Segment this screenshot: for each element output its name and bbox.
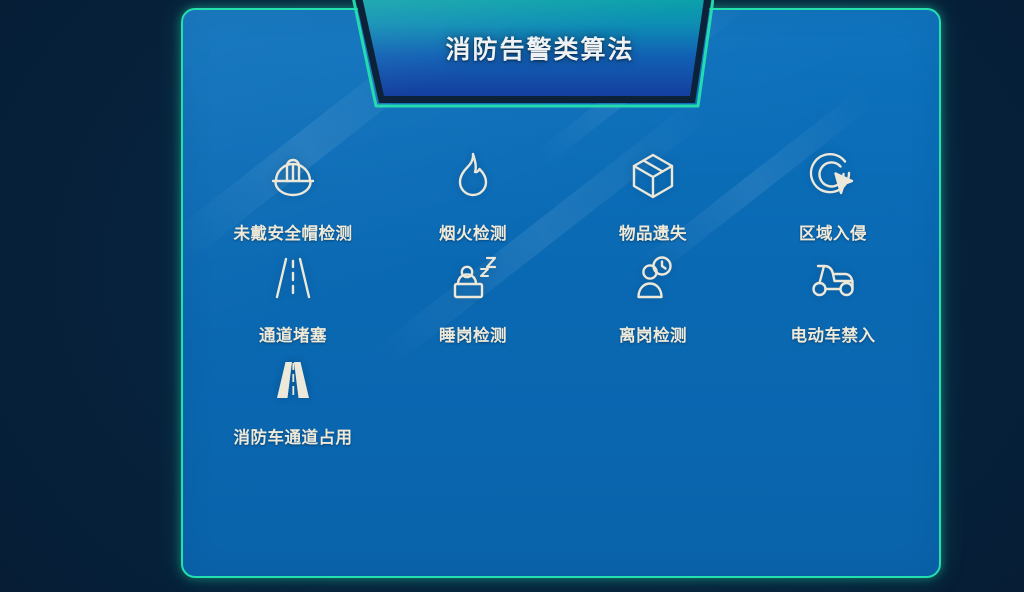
package-box-icon: [625, 148, 681, 204]
algorithm-item-lost-object[interactable]: 物品遗失: [563, 148, 743, 250]
algorithm-item-label: 消防车通道占用: [234, 424, 353, 448]
algorithm-row: 消防车通道占用: [203, 352, 923, 454]
scooter-icon: [805, 250, 861, 306]
road-outline-icon: [265, 250, 321, 306]
algorithm-row: 未戴安全帽检测 烟火检测: [203, 148, 923, 250]
algorithm-item-hard-hat[interactable]: 未戴安全帽检测: [203, 148, 383, 250]
algorithm-item-sleeping-on-duty[interactable]: 睡岗检测: [383, 250, 563, 352]
algorithm-item-area-intrusion[interactable]: 区域入侵: [743, 148, 923, 250]
algorithm-item-label: 电动车禁入: [791, 322, 876, 346]
algorithm-item-label: 通道堵塞: [259, 322, 327, 346]
sleeping-person-icon: [445, 250, 501, 306]
road-filled-icon: [265, 352, 321, 408]
algorithm-item-label: 离岗检测: [619, 322, 687, 346]
algorithm-item-label: 睡岗检测: [439, 322, 507, 346]
algorithm-item-passage-blocked[interactable]: 通道堵塞: [203, 250, 383, 352]
algorithm-item-flame[interactable]: 烟火检测: [383, 148, 563, 250]
person-clock-icon: [625, 250, 681, 306]
algorithm-item-label: 物品遗失: [619, 220, 687, 244]
algorithm-item-label: 未戴安全帽检测: [234, 220, 353, 244]
panel-title-banner: 消防告警类算法: [352, 0, 714, 112]
algorithm-item-fire-lane-occupied[interactable]: 消防车通道占用: [203, 352, 383, 454]
algorithm-grid: 未戴安全帽检测 烟火检测: [203, 148, 923, 454]
algorithm-item-off-duty[interactable]: 离岗检测: [563, 250, 743, 352]
algorithm-item-label: 区域入侵: [799, 220, 867, 244]
algorithm-item-label: 烟火检测: [439, 220, 507, 244]
area-intrusion-icon: [805, 148, 861, 204]
algorithm-item-no-ebike[interactable]: 电动车禁入: [743, 250, 923, 352]
algorithm-row: 通道堵塞 睡岗检测: [203, 250, 923, 352]
flame-icon: [445, 148, 501, 204]
dashboard-stage: 未戴安全帽检测 烟火检测: [0, 0, 1024, 592]
hard-hat-icon: [265, 148, 321, 204]
